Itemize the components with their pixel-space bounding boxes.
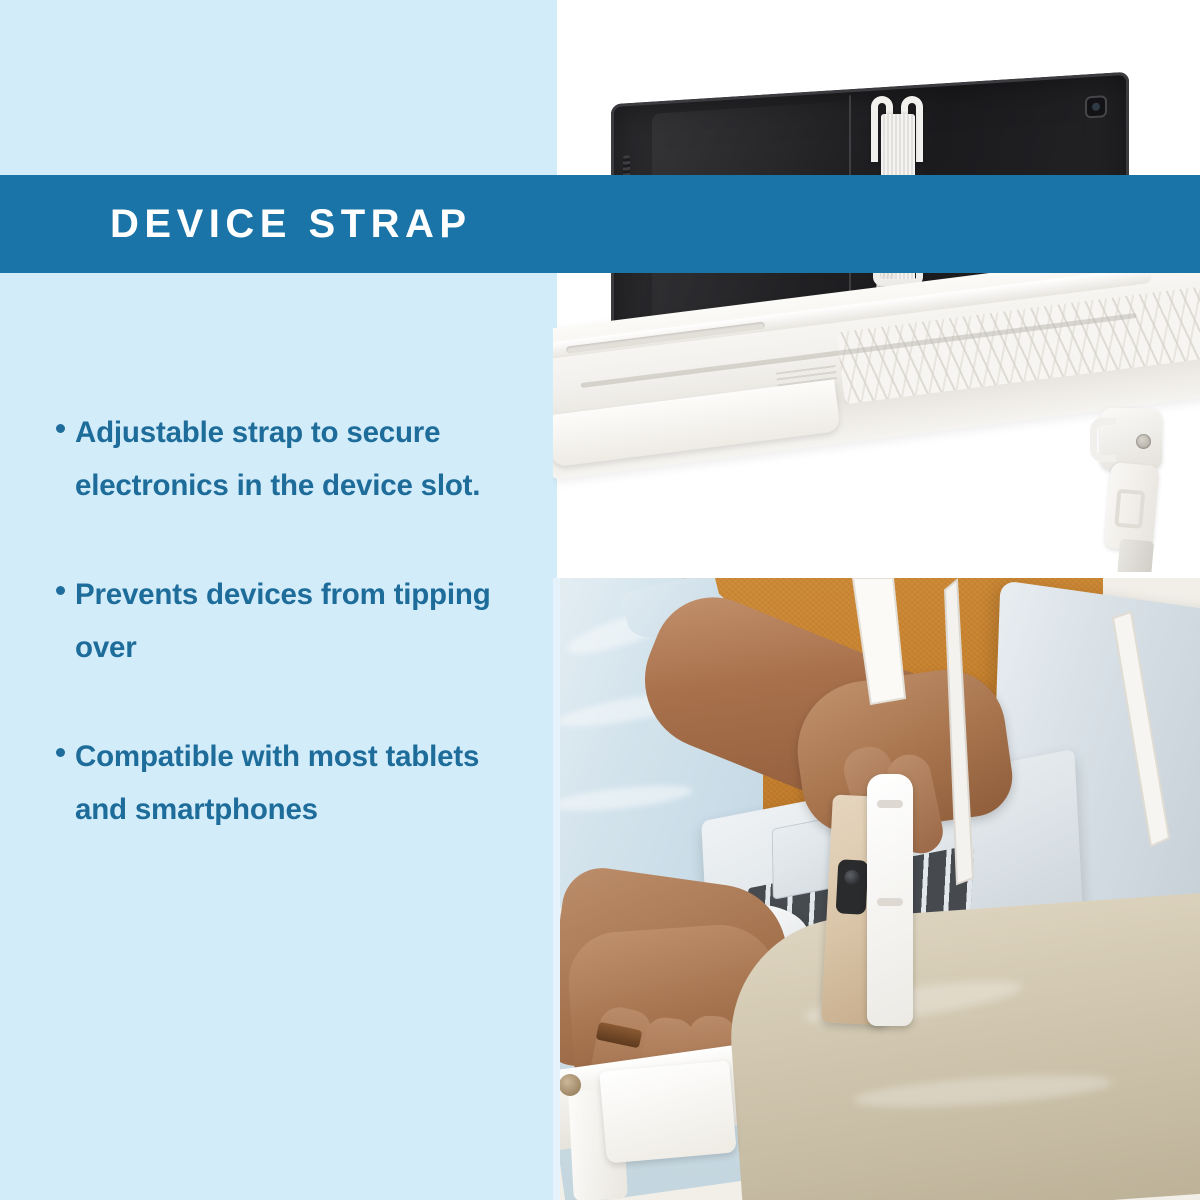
bullet-dot-icon: [56, 748, 65, 757]
list-item: Prevents devices from tipping over: [56, 568, 536, 674]
joint-block: [1100, 408, 1162, 470]
tray-mesh-texture: [836, 283, 1200, 405]
list-item-label: Prevents devices from tipping over: [75, 568, 536, 674]
list-item-label: Compatible with most tablets and smartph…: [75, 730, 536, 836]
strap-hook-right: [901, 96, 923, 162]
joint-hook: [1090, 418, 1116, 462]
tray-drawer: [553, 379, 841, 467]
page-title: DEVICE STRAP: [110, 175, 472, 273]
device-slot: [566, 322, 765, 354]
infographic-canvas: DEVICE STRAP Adjustable strap to secure …: [0, 0, 1200, 1200]
photo-tablet-with-strap: [553, 0, 1200, 572]
title-banner: DEVICE STRAP: [0, 175, 1200, 273]
list-item-label: Adjustable strap to secure electronics i…: [75, 406, 536, 512]
list-item: Adjustable strap to secure electronics i…: [56, 406, 536, 512]
tray-vents: [776, 365, 838, 388]
tray-front-lip: [553, 267, 1152, 361]
photo-laptop-and-phone-in-use: [553, 578, 1200, 1200]
tray-groove: [581, 313, 1137, 388]
photo-left-edge-strip: [553, 578, 560, 1200]
joint-screw-icon: [1136, 434, 1151, 449]
desk-latch-tab: [599, 1061, 737, 1164]
list-item: Compatible with most tablets and smartph…: [56, 730, 536, 836]
tablet-port: [621, 335, 631, 356]
bullet-dot-icon: [56, 424, 65, 433]
leg-arm: [1104, 462, 1159, 552]
desk-leg-knob-icon: [559, 1074, 581, 1096]
lap-desk-tray-top: [553, 243, 1200, 480]
strap-hook-left: [871, 96, 893, 162]
bullet-dot-icon: [56, 586, 65, 595]
tablet-camera-icon: [1085, 95, 1107, 118]
leg-adjustment-joint: [1082, 408, 1178, 572]
feature-list: Adjustable strap to secure electronics i…: [56, 406, 536, 892]
leg-tube: [1116, 539, 1154, 572]
